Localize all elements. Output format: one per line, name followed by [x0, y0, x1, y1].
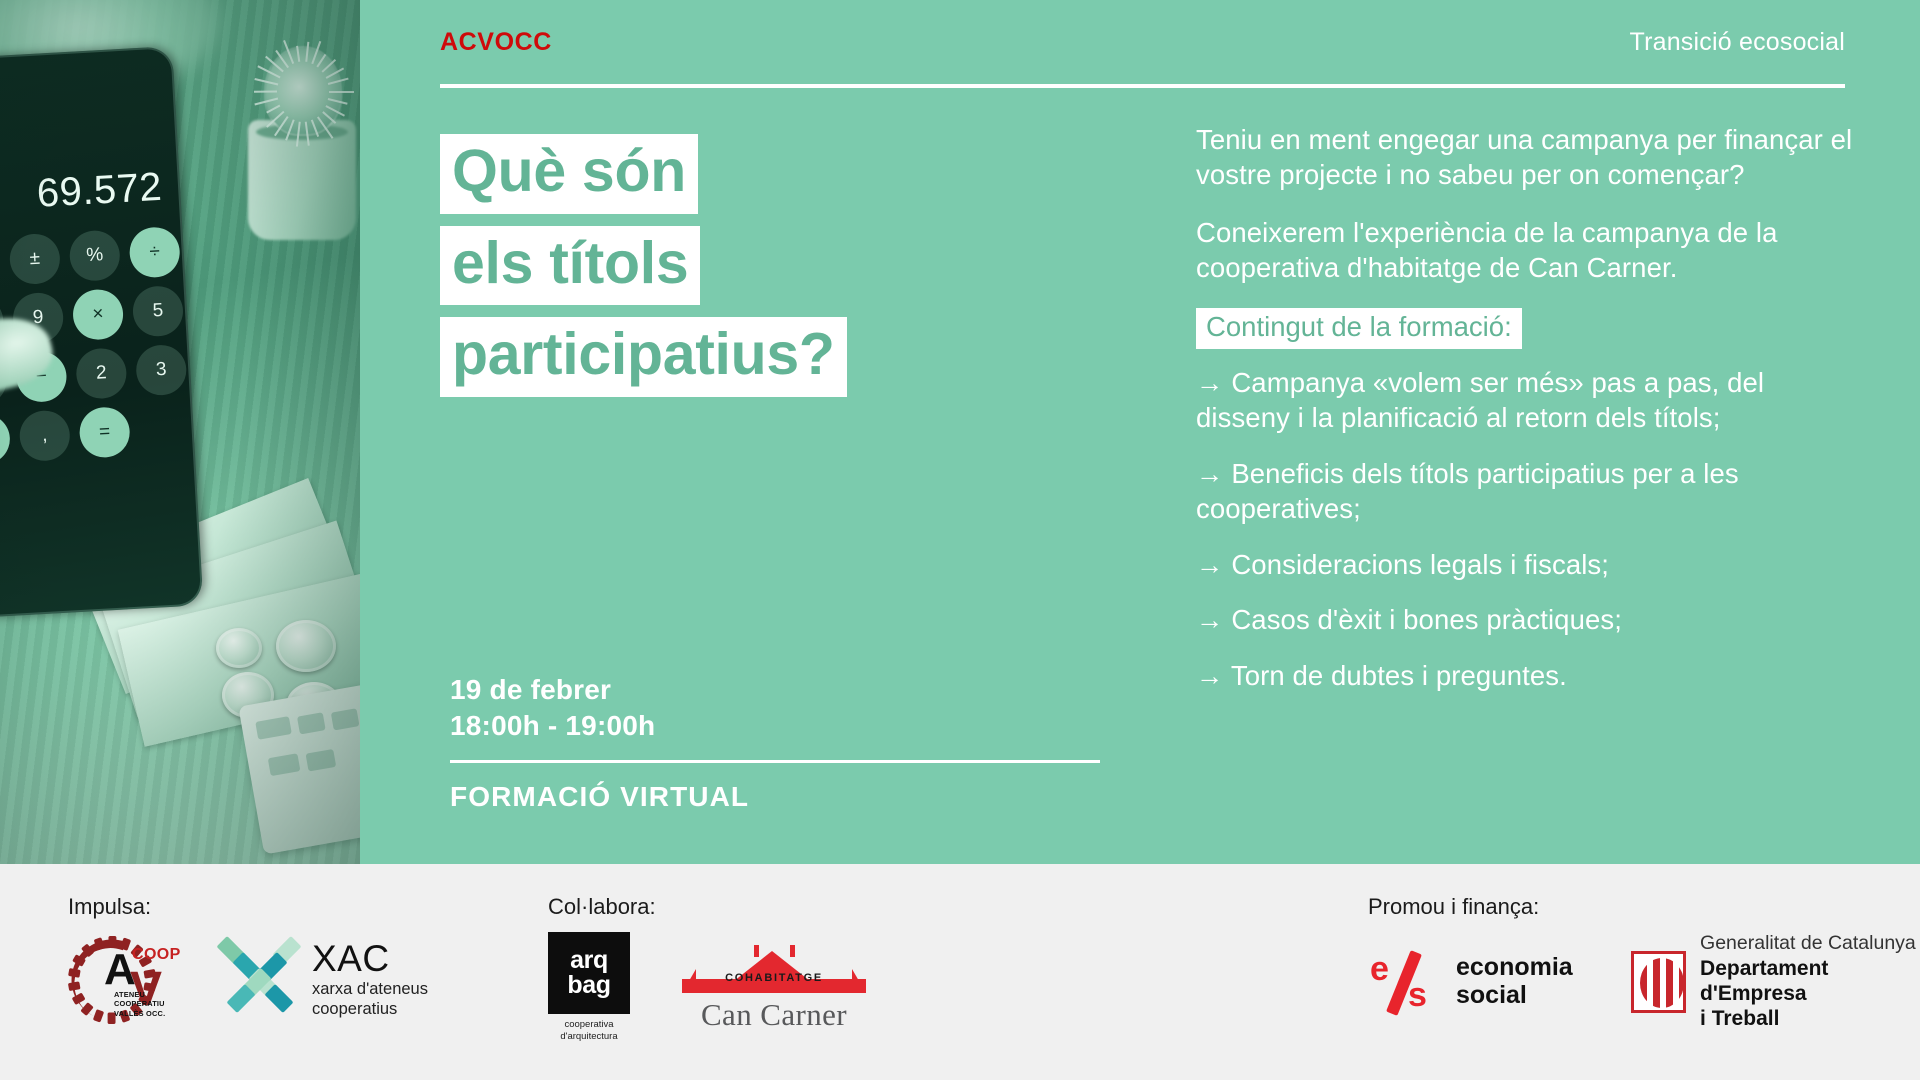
arqbag-line-2: bag	[567, 973, 610, 999]
title-line-1: Què són	[440, 134, 698, 214]
contents-list-item: → Beneficis dels títols participatius pe…	[1196, 456, 1856, 527]
section-heading-contents: Contingut de la formació:	[1196, 308, 1522, 349]
economia-letter-s: s	[1408, 978, 1427, 1012]
generalitat-line-3: i Treball	[1700, 1006, 1920, 1031]
event-date: 19 de febrer	[450, 672, 1110, 708]
footer-group-collabora: Col·labora: arq bag cooperativad'arquite…	[548, 864, 874, 1080]
catalonia-shield-icon	[1631, 951, 1686, 1013]
logo-avcoop[interactable]: COOP A V ATENEUCOOPERATIUVALLÈS OCC.	[68, 932, 180, 1028]
main-green-panel: 5 69.572 C±%÷89×56−23+,=	[0, 0, 1920, 864]
contents-list-item: → Consideracions legals i fiscals;	[1196, 547, 1856, 582]
xac-cross-mark-icon	[214, 937, 300, 1023]
house-roof-icon: COHABITATGE	[674, 943, 874, 993]
xac-name: XAC	[312, 941, 428, 977]
collabora-label: Col·labora:	[548, 894, 874, 920]
xac-subtitle: xarxa d'ateneuscooperatius	[312, 979, 428, 1019]
schedule-divider	[450, 760, 1100, 763]
contents-list-item: → Torn de dubtes i preguntes.	[1196, 658, 1856, 693]
title-line-2: els títols	[440, 226, 700, 306]
arqbag-square: arq bag	[548, 932, 630, 1014]
contents-list-item: → Campanya «volem ser més» pas a pas, de…	[1196, 365, 1856, 436]
generalitat-line-1: Generalitat de Catalunya	[1700, 932, 1920, 956]
impulsa-label: Impulsa:	[68, 894, 428, 920]
schedule-block: 19 de febrer 18:00h - 19:00h FORMACIÓ VI…	[450, 672, 1110, 813]
event-mode: FORMACIÓ VIRTUAL	[450, 781, 1110, 813]
description-column: Teniu en ment engegar una campanya per f…	[1196, 122, 1856, 713]
event-time: 18:00h - 19:00h	[450, 708, 1110, 744]
logo-xac[interactable]: XAC xarxa d'ateneuscooperatius	[214, 937, 428, 1023]
footer-group-promou: Promou i finança: e s economia social	[1368, 864, 1920, 1080]
avcoop-coop-text: COOP	[132, 946, 181, 964]
can-carner-name: Can Carner	[674, 997, 874, 1033]
brand-logo-acvocc: ACVOCC	[440, 28, 552, 57]
header-tagline: Transició ecosocial	[1630, 28, 1845, 57]
logo-generalitat[interactable]: Generalitat de Catalunya Departament d'E…	[1631, 932, 1920, 1031]
economia-social-mark-icon: e s	[1368, 948, 1442, 1016]
cohabitatge-label: COHABITATGE	[725, 972, 823, 984]
generalitat-line-2: Departament d'Empresa	[1700, 956, 1920, 1006]
header-divider	[440, 84, 1845, 88]
contents-list-item: → Casos d'èxit i bones pràctiques;	[1196, 602, 1856, 637]
contents-list: → Campanya «volem ser més» pas a pas, de…	[1196, 365, 1856, 693]
economia-letter-e: e	[1370, 952, 1389, 986]
economia-line-1: economia	[1456, 954, 1573, 982]
page-title: Què són els títols participatius?	[440, 134, 1080, 409]
intro-paragraph-2: Coneixerem l'experiència de la campanya …	[1196, 215, 1856, 286]
promou-label: Promou i finança:	[1368, 894, 1920, 920]
logo-can-carner[interactable]: COHABITATGE Can Carner	[674, 943, 874, 1033]
footer-group-impulsa: Impulsa: COOP A V ATENEUCOOPERATIUVALLÈS…	[68, 864, 428, 1080]
footer-logos-bar: Impulsa: COOP A V ATENEUCOOPERATIUVALLÈS…	[0, 864, 1920, 1080]
poster: 5 69.572 C±%÷89×56−23+,=	[0, 0, 1920, 1080]
shield-stripes	[1640, 958, 1684, 1008]
arqbag-caption: cooperativad'arquitectura	[548, 1019, 630, 1044]
arqbag-line-1: arq	[570, 948, 608, 974]
photo-vignette	[0, 0, 360, 864]
avcoop-subtitle: ATENEUCOOPERATIUVALLÈS OCC.	[114, 990, 165, 1018]
header: ACVOCC Transició ecosocial	[440, 28, 1845, 88]
logo-economia-social[interactable]: e s economia social	[1368, 948, 1573, 1016]
title-line-3: participatius?	[440, 317, 847, 397]
logo-arqbag[interactable]: arq bag cooperativad'arquitectura	[548, 932, 630, 1044]
hero-photo-calculator-money: 5 69.572 C±%÷89×56−23+,=	[0, 0, 360, 864]
intro-paragraph-1: Teniu en ment engegar una campanya per f…	[1196, 122, 1856, 193]
economia-line-2: social	[1456, 982, 1573, 1010]
